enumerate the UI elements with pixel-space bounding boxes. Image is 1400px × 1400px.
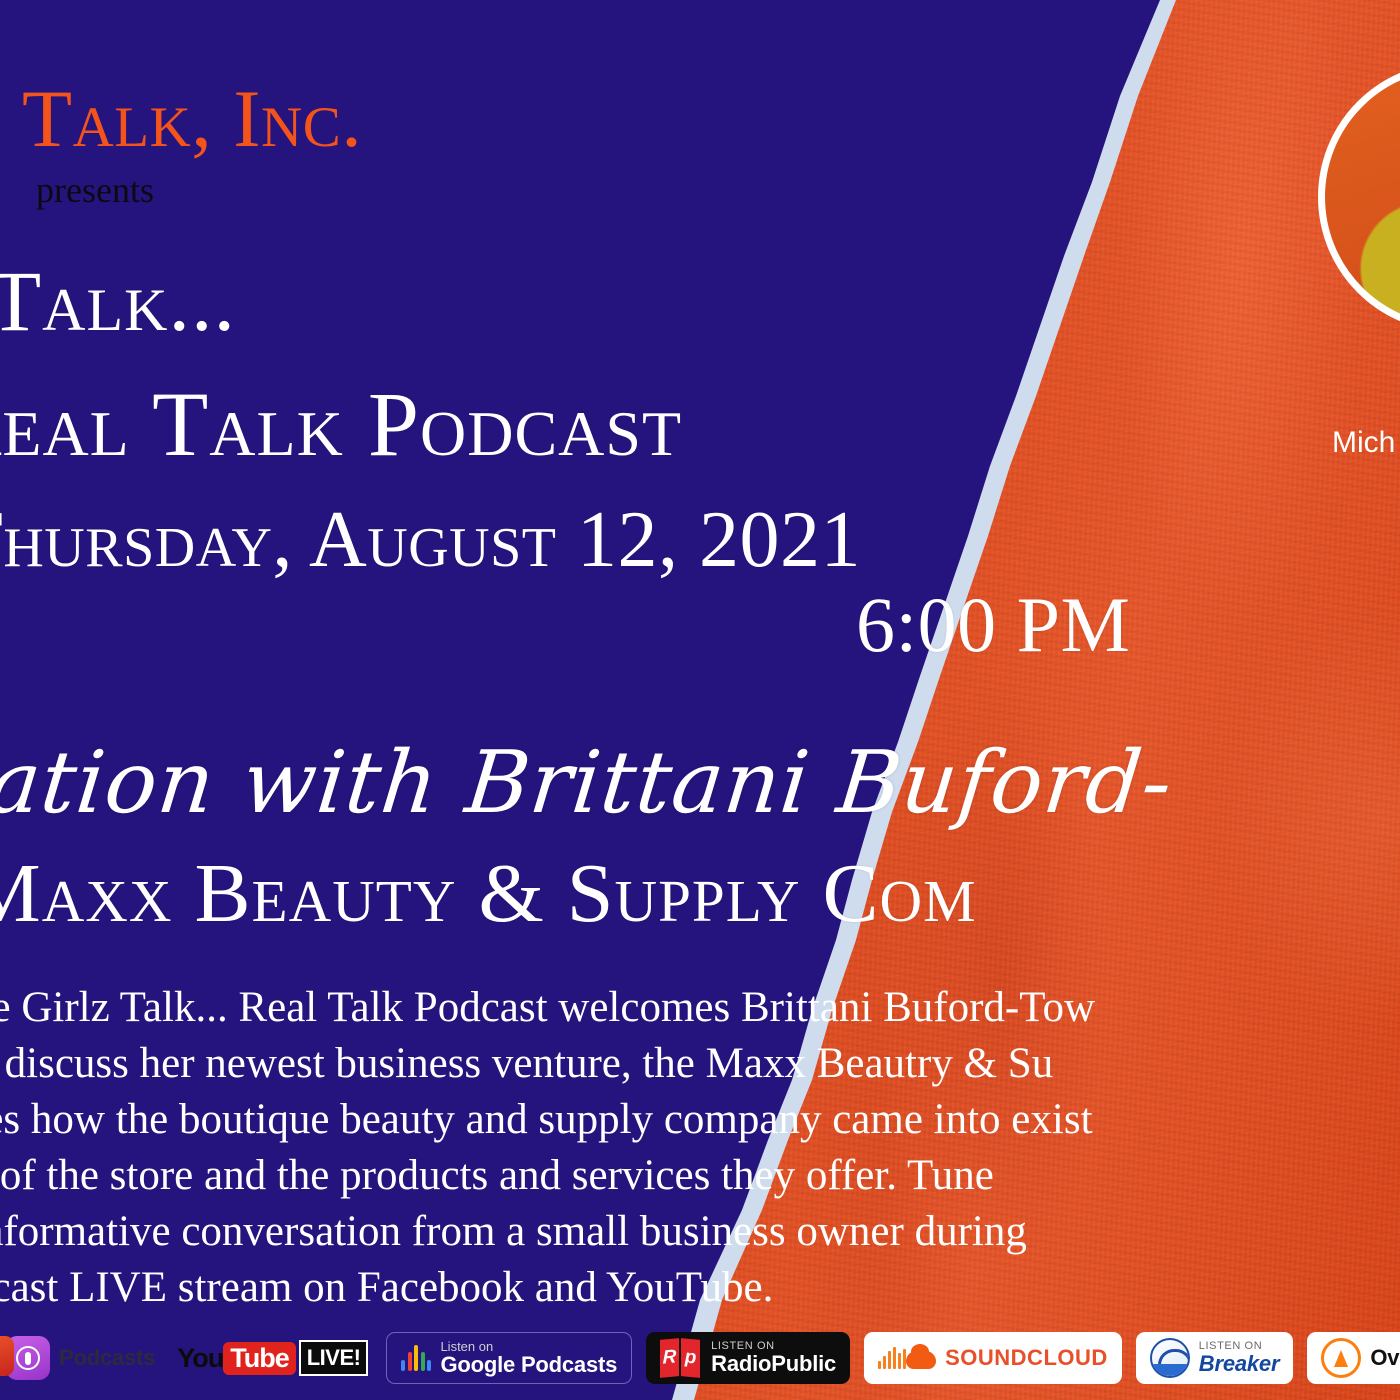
badge-label: Overcast <box>1370 1346 1400 1369</box>
presents-label: presents <box>36 172 154 208</box>
event-date: Thursday, August 12, 2021 <box>0 500 861 580</box>
podcast-promo-poster: Talk, Inc. presents Mich z Talk... Real … <box>0 0 1400 1400</box>
youtube-live-text: LIVE! <box>299 1340 369 1376</box>
badge-kicker: Listen on <box>440 1340 617 1354</box>
host-avatar <box>1318 62 1400 332</box>
podcast-name-title: Real Talk Podcast <box>0 378 682 470</box>
description-line: he Girlz Talk... Real Talk Podcast welco… <box>0 980 1400 1036</box>
breaker-icon <box>1150 1338 1190 1378</box>
description-line: res how the boutique beauty and supply c… <box>0 1092 1400 1148</box>
radiopublic-icon: Rp <box>660 1339 702 1377</box>
badge-radiopublic[interactable]: Rp LISTEN ON RadioPublic <box>646 1332 850 1384</box>
badge-label: Breaker <box>1199 1352 1280 1375</box>
badge-youtube-live[interactable]: You Tube LIVE! <box>173 1332 372 1384</box>
badge-overcast[interactable]: Overcast <box>1307 1332 1400 1384</box>
brand-title: Talk, Inc. <box>22 78 362 160</box>
host-name-label: Mich <box>1332 428 1395 458</box>
badge-label: SOUNDCLOUD <box>945 1346 1108 1369</box>
host-portrait-icon <box>1318 62 1400 332</box>
event-time: 6:00 PM <box>856 586 1130 664</box>
badge-apple-podcasts[interactable]: Podcasts <box>2 1332 159 1384</box>
badge-google-podcasts[interactable]: Listen on Google Podcasts <box>386 1332 632 1384</box>
guest-line: ersation with Brittani Buford- <box>0 740 1177 826</box>
badge-label: RadioPublic <box>711 1352 836 1375</box>
episode-description: he Girlz Talk... Real Talk Podcast welco… <box>0 980 1400 1316</box>
description-line: ll discuss her newest business venture, … <box>0 1036 1400 1092</box>
description-line: dcast LIVE stream on Facebook and YouTub… <box>0 1260 1400 1316</box>
overcast-icon <box>1321 1338 1361 1378</box>
youtube-you-text: You <box>177 1343 223 1374</box>
badge-label: Podcasts <box>59 1346 155 1369</box>
show-name-title: z Talk... <box>0 258 236 344</box>
badge-partial-left-icon[interactable] <box>0 1336 14 1376</box>
business-line: Maxx Beauty & Supply Com <box>0 852 977 936</box>
badge-soundcloud[interactable]: SOUNDCLOUD <box>864 1332 1122 1384</box>
description-line: informative conversation from a small bu… <box>0 1204 1400 1260</box>
soundcloud-icon <box>878 1345 936 1371</box>
badge-label: Google Podcasts <box>440 1353 617 1376</box>
youtube-live-icon: You Tube LIVE! <box>177 1340 368 1376</box>
google-podcasts-icon <box>401 1345 431 1371</box>
badge-breaker[interactable]: LISTEN ON Breaker <box>1136 1332 1294 1384</box>
description-line: e of the store and the products and serv… <box>0 1148 1400 1204</box>
platform-badge-strip: Podcasts You Tube LIVE! Listen on Google… <box>0 1322 1400 1394</box>
youtube-tube-text: Tube <box>223 1342 296 1375</box>
